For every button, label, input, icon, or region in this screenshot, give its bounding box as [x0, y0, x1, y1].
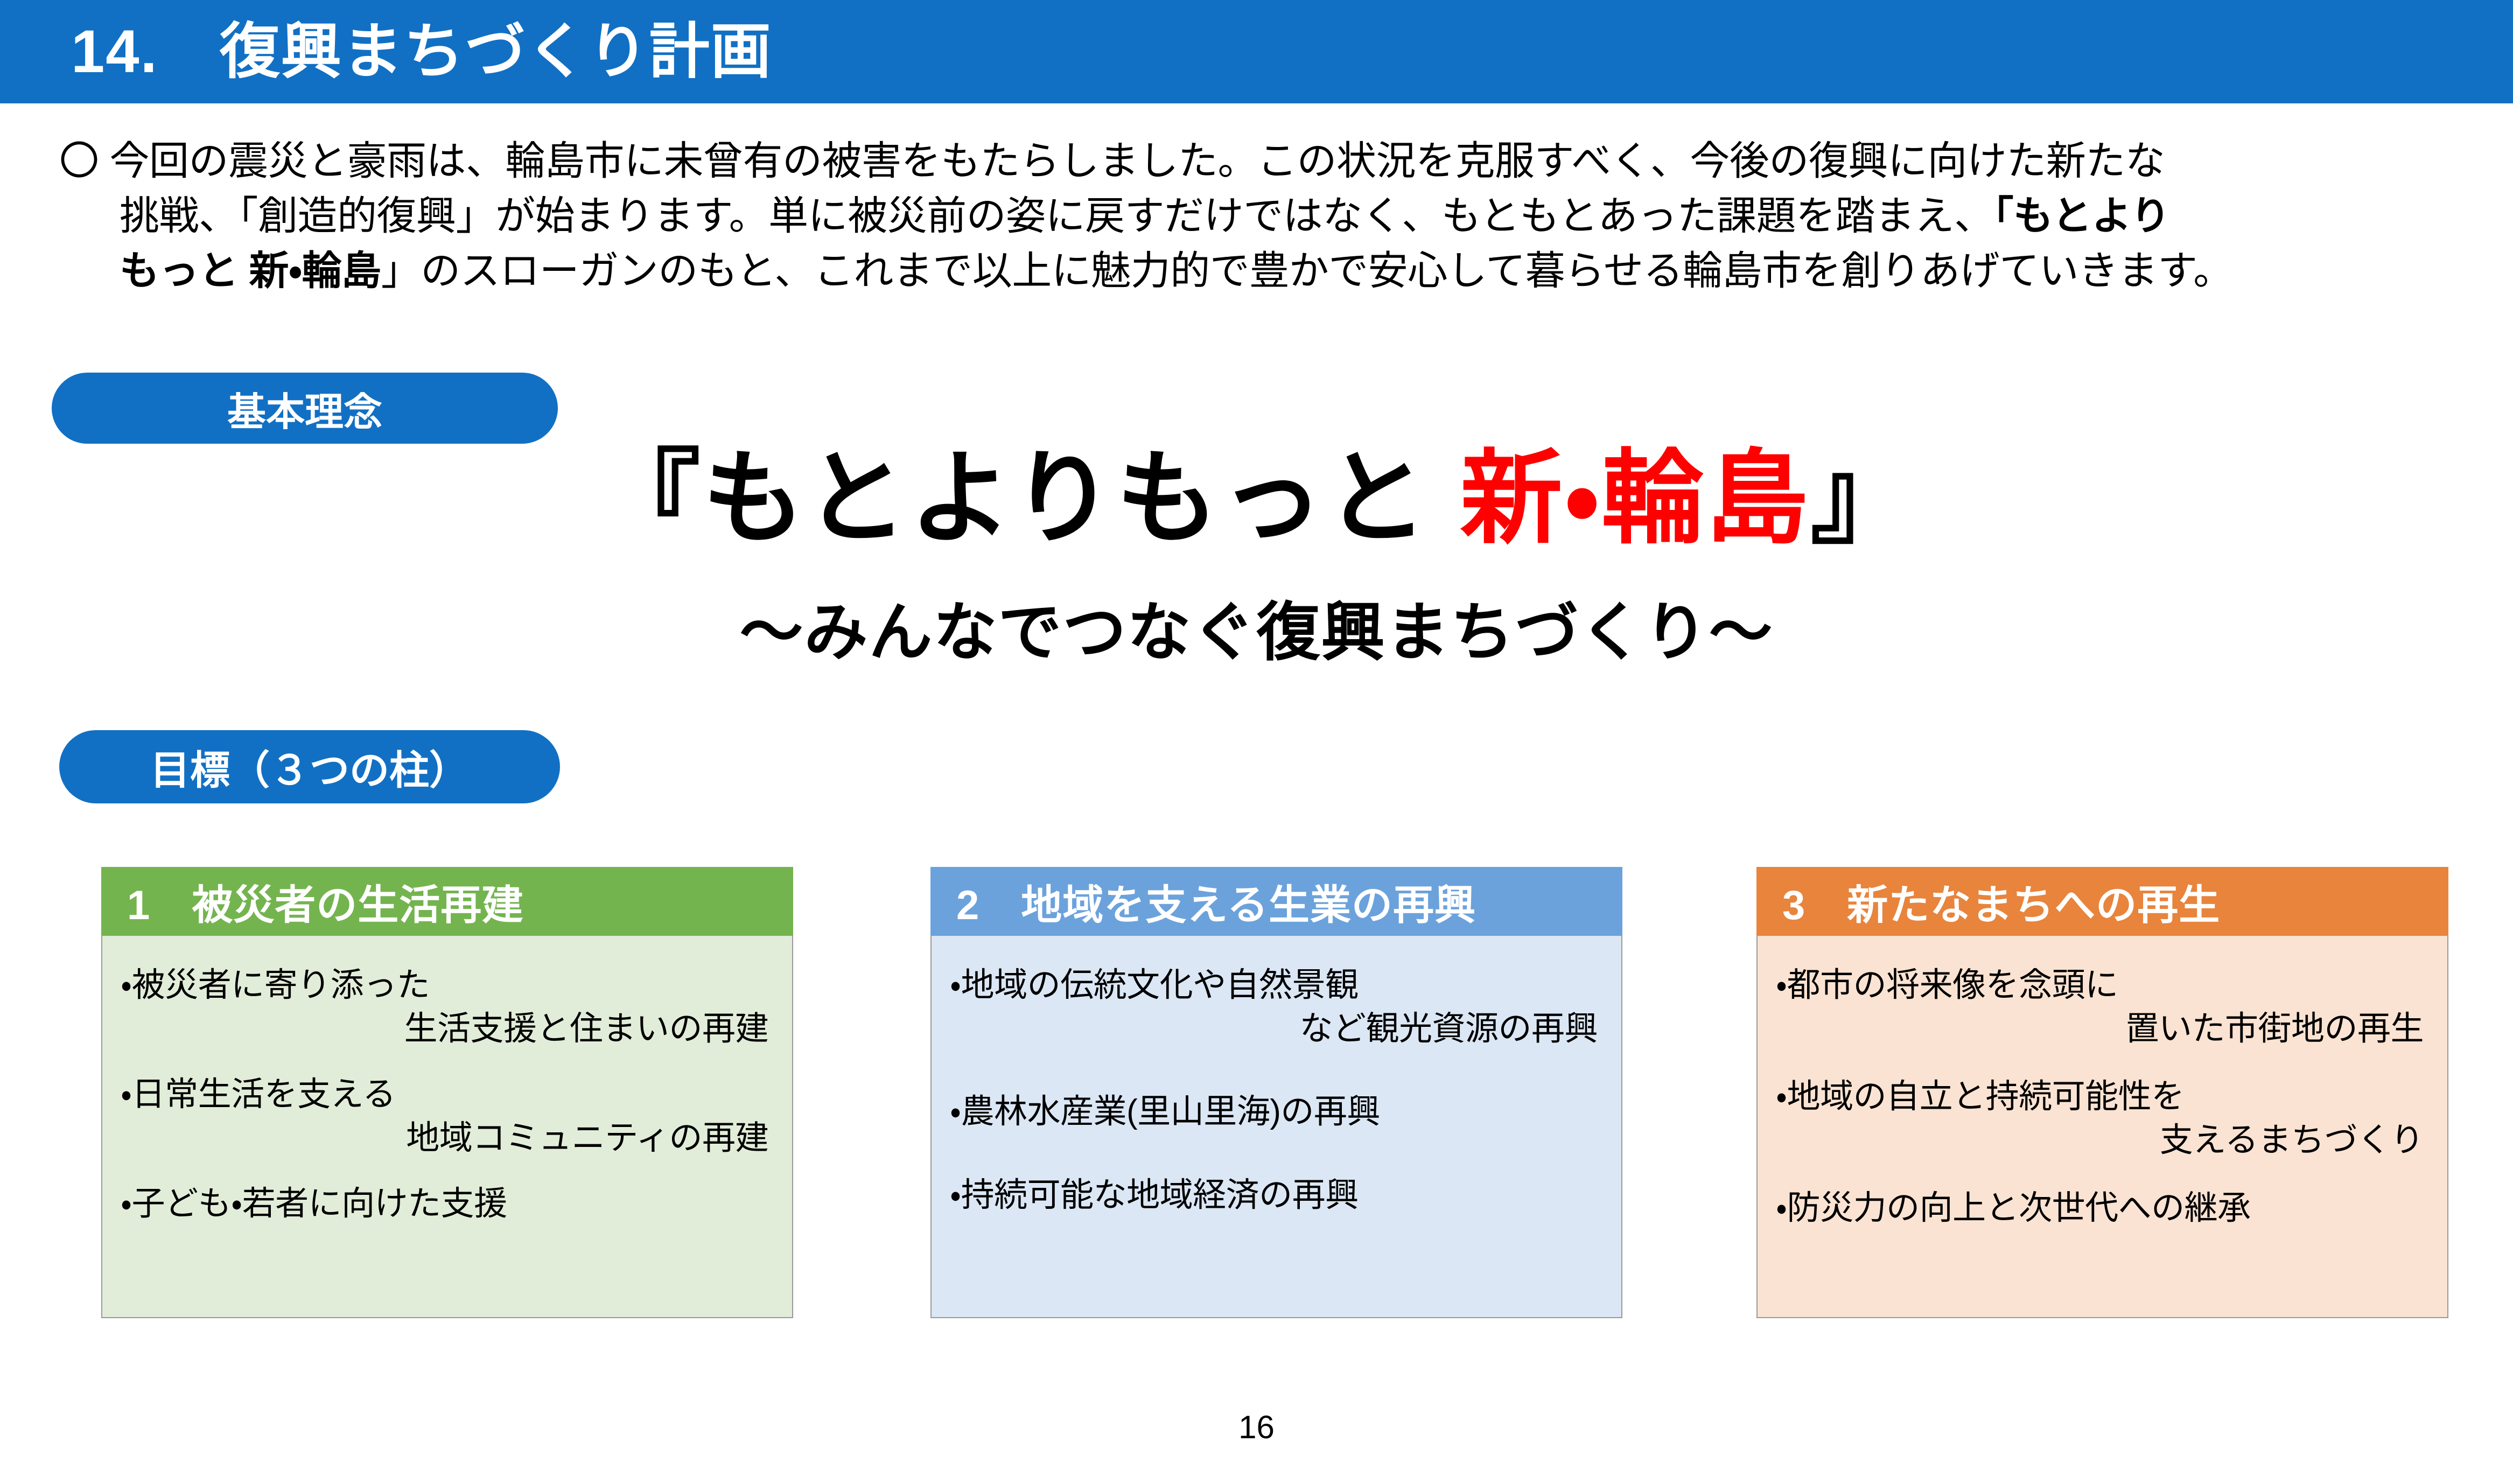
- list-item: ・被災者に寄り添った 生活支援と住まいの再建: [121, 964, 774, 1051]
- pillar-1-item-3-line-1: ・子ども・若者に向けた支援: [121, 1182, 774, 1226]
- list-item: ・防災力の向上と次世代への継承: [1776, 1187, 2429, 1230]
- list-item: ・農林水産業(里山里海)の再興: [950, 1090, 1603, 1134]
- pillar-1-item-1-line-1: ・被災者に寄り添った: [121, 964, 774, 1007]
- slogan-black-part: もとよりもっと: [703, 442, 1460, 556]
- lead-line-2: 挑戦、「創造的復興」が始まります。単に被災前の姿に戻すだけではなく、もともとあっ…: [59, 188, 2466, 243]
- pillar-1-header: 1 被災者の生活再建: [101, 867, 793, 936]
- pillar-1-item-2-line-2: 地域コミュニティの再建: [121, 1117, 774, 1160]
- page-number: 16: [0, 1409, 2513, 1446]
- slogan-close-quote: 』: [1810, 442, 1915, 556]
- slogan-subtitle: ～みんなでつなぐ復興まちづくり～: [0, 580, 2513, 673]
- pillar-3-item-2-line-2: 支えるまちづくり: [1776, 1119, 2429, 1163]
- slogan-open-quote: 『: [598, 442, 703, 556]
- lead-line-3-text: 」のスローガンのもと、これまで以上に魅力的で豊かで安心して暮らせる輪島市を創りあ…: [381, 248, 2233, 293]
- pillar-1-item-1-line-2: 生活支援と住まいの再建: [121, 1007, 774, 1051]
- list-item: ・地域の伝統文化や自然景観 など観光資源の再興: [950, 964, 1603, 1051]
- pillar-column-3: 3 新たなまちへの再生 ・都市の将来像を念頭に 置いた市街地の再生 ・地域の自立…: [1756, 867, 2448, 1318]
- pillar-3-item-2-line-1: ・地域の自立と持続可能性を: [1776, 1075, 2429, 1119]
- pillar-2-item-2-line-1: ・農林水産業(里山里海)の再興: [950, 1090, 1603, 1134]
- pillar-3-item-1-line-2: 置いた市街地の再生: [1776, 1007, 2429, 1051]
- badge-basic-philosophy: 基本理念: [52, 373, 558, 444]
- badge-goals: 目標（３つの柱）: [59, 730, 560, 803]
- pillar-3-body: ・都市の将来像を念頭に 置いた市街地の再生 ・地域の自立と持続可能性を 支えるま…: [1756, 936, 2448, 1318]
- page-title: 14. 復興まちづくり計画: [71, 22, 772, 82]
- lead-line-2-bold: 「もとより: [1994, 193, 2171, 238]
- lead-line-3: もっと 新・輪島」のスローガンのもと、これまで以上に魅力的で豊かで安心して暮らせ…: [59, 243, 2466, 298]
- badge-basic-philosophy-label: 基本理念: [227, 380, 382, 437]
- list-item: ・日常生活を支える 地域コミュニティの再建: [121, 1073, 774, 1160]
- pillar-column-2: 2 地域を支える生業の再興 ・地域の伝統文化や自然景観 など観光資源の再興 ・農…: [930, 867, 1622, 1318]
- list-item: ・子ども・若者に向けた支援: [121, 1182, 774, 1226]
- list-item: ・地域の自立と持続可能性を 支えるまちづくり: [1776, 1075, 2429, 1162]
- lead-line-2-text: 挑戦、「創造的復興」が始まります。単に被災前の姿に戻すだけではなく、もともとあっ…: [120, 193, 1994, 238]
- list-item: ・都市の将来像を念頭に 置いた市街地の再生: [1776, 964, 2429, 1051]
- list-item: ・持続可能な地域経済の再興: [950, 1174, 1603, 1217]
- pillar-2-item-1-line-2: など観光資源の再興: [950, 1007, 1603, 1051]
- slogan-red-part: 新・輪島: [1460, 442, 1811, 556]
- badge-goals-label: 目標（３つの柱）: [150, 738, 469, 796]
- pillar-3-item-3-line-1: ・防災力の向上と次世代への継承: [1776, 1187, 2429, 1230]
- pillar-2-item-1-line-1: ・地域の伝統文化や自然景観: [950, 964, 1603, 1007]
- slogan: 『もとよりもっと 新・輪島』: [0, 442, 2513, 556]
- pillar-3-header: 3 新たなまちへの再生: [1756, 867, 2448, 936]
- pillar-column-1: 1 被災者の生活再建 ・被災者に寄り添った 生活支援と住まいの再建 ・日常生活を…: [101, 867, 793, 1318]
- pillar-2-header: 2 地域を支える生業の再興: [930, 867, 1622, 936]
- pillar-2-item-3-line-1: ・持続可能な地域経済の再興: [950, 1174, 1603, 1217]
- pillar-columns: 1 被災者の生活再建 ・被災者に寄り添った 生活支援と住まいの再建 ・日常生活を…: [0, 867, 2513, 1352]
- lead-line-1: 〇 今回の震災と豪雨は、輪島市に未曾有の被害をもたらしました。この状況を克服すべ…: [59, 134, 2466, 188]
- lead-line-3-bold: もっと 新・輪島: [120, 248, 381, 293]
- lead-paragraph: 〇 今回の震災と豪雨は、輪島市に未曾有の被害をもたらしました。この状況を克服すべ…: [59, 134, 2466, 298]
- pillar-1-item-2-line-1: ・日常生活を支える: [121, 1073, 774, 1117]
- pillar-1-body: ・被災者に寄り添った 生活支援と住まいの再建 ・日常生活を支える 地域コミュニテ…: [101, 936, 793, 1318]
- slide-title-bar: 14. 復興まちづくり計画: [0, 0, 2513, 103]
- pillar-2-body: ・地域の伝統文化や自然景観 など観光資源の再興 ・農林水産業(里山里海)の再興 …: [930, 936, 1622, 1318]
- pillar-3-item-1-line-1: ・都市の将来像を念頭に: [1776, 964, 2429, 1007]
